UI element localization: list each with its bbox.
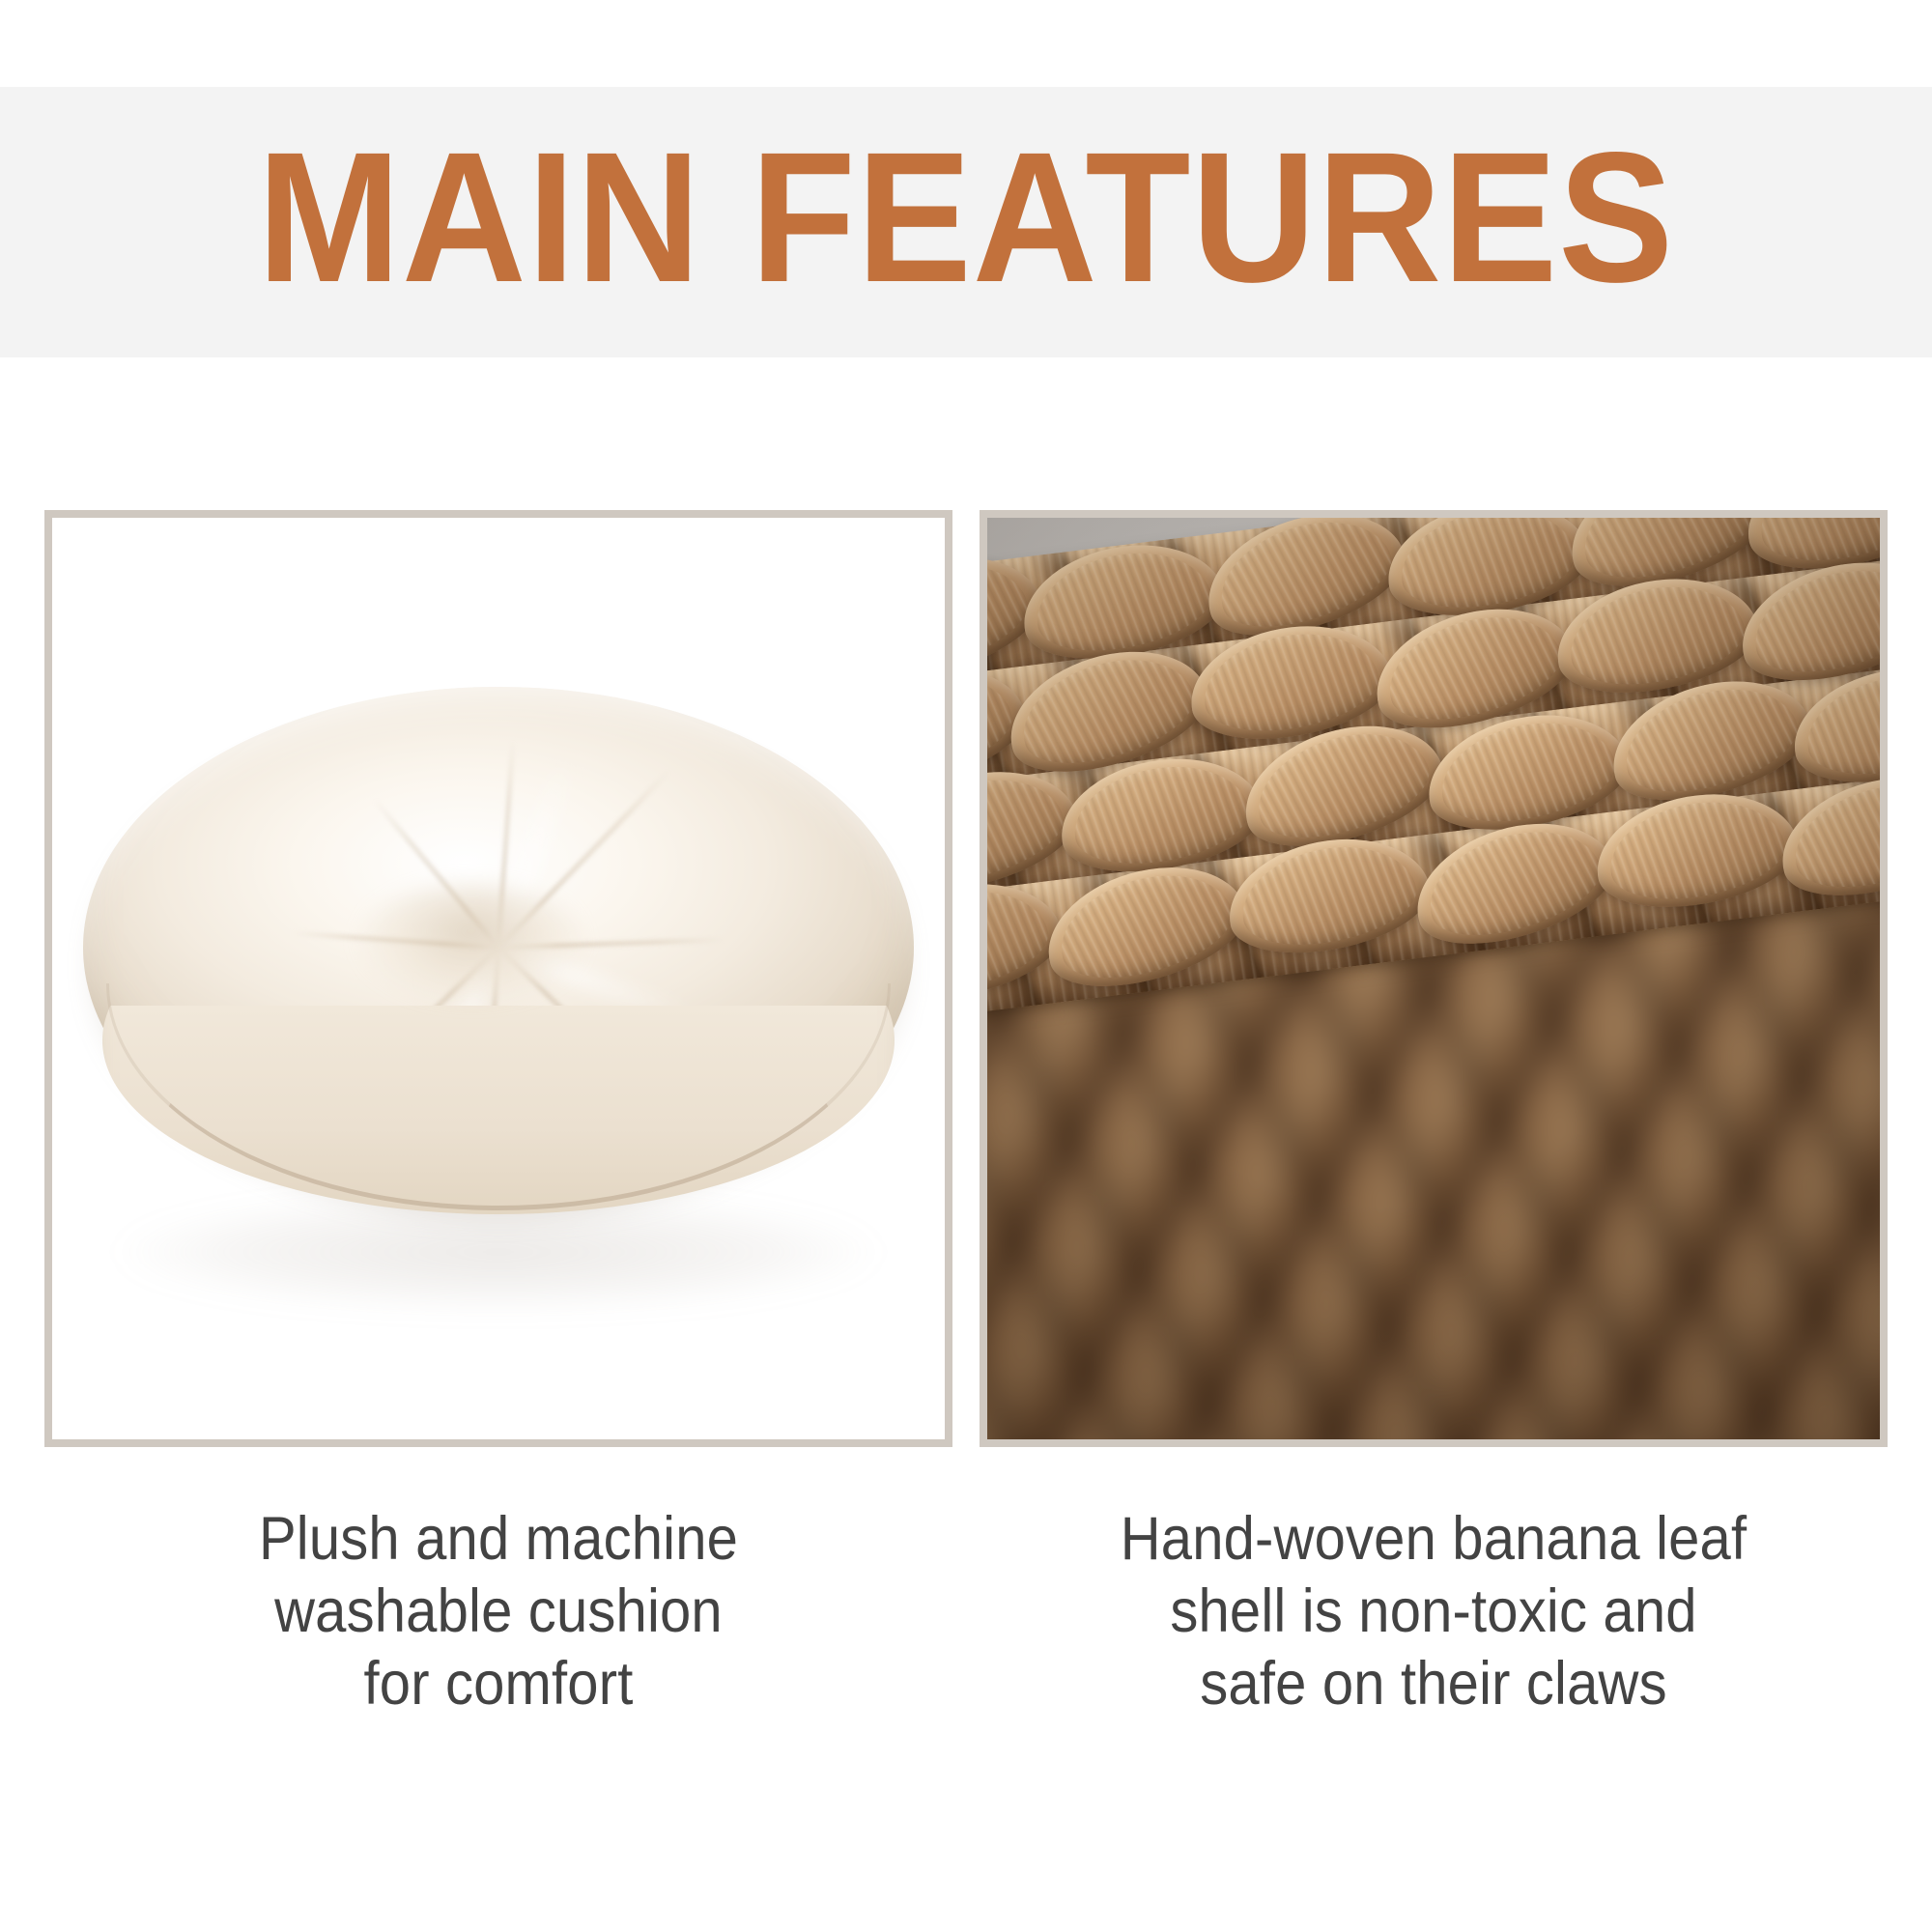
cushion-photo — [52, 518, 945, 1439]
caption-line: Plush and machine — [81, 1503, 917, 1576]
feature-image-frame-cushion — [44, 510, 952, 1447]
woven-shell-photo — [987, 518, 1880, 1439]
caption-line: safe on their claws — [1016, 1648, 1852, 1720]
caption-line: shell is non-toxic and — [1016, 1576, 1852, 1648]
weave-scene — [987, 518, 1880, 1439]
cushion-rim-seam — [106, 983, 891, 1210]
feature-image-frame-woven-shell — [980, 510, 1888, 1447]
page-title: MAIN FEATURES — [258, 125, 1675, 320]
features-grid: Plush and machine washable cushion for c… — [0, 510, 1932, 1862]
cushion-scene — [52, 518, 945, 1439]
caption-line: for comfort — [81, 1648, 917, 1720]
feature-card-woven-shell: Hand-woven banana leaf shell is non-toxi… — [980, 510, 1888, 1720]
feature-caption-woven-shell: Hand-woven banana leaf shell is non-toxi… — [1016, 1503, 1852, 1720]
cushion-center-tuft — [360, 885, 582, 1001]
caption-line: washable cushion — [81, 1576, 917, 1648]
feature-caption-cushion: Plush and machine washable cushion for c… — [81, 1503, 917, 1720]
caption-line: Hand-woven banana leaf — [1016, 1503, 1852, 1576]
feature-card-cushion: Plush and machine washable cushion for c… — [44, 510, 952, 1720]
header-banner: MAIN FEATURES — [0, 87, 1932, 357]
